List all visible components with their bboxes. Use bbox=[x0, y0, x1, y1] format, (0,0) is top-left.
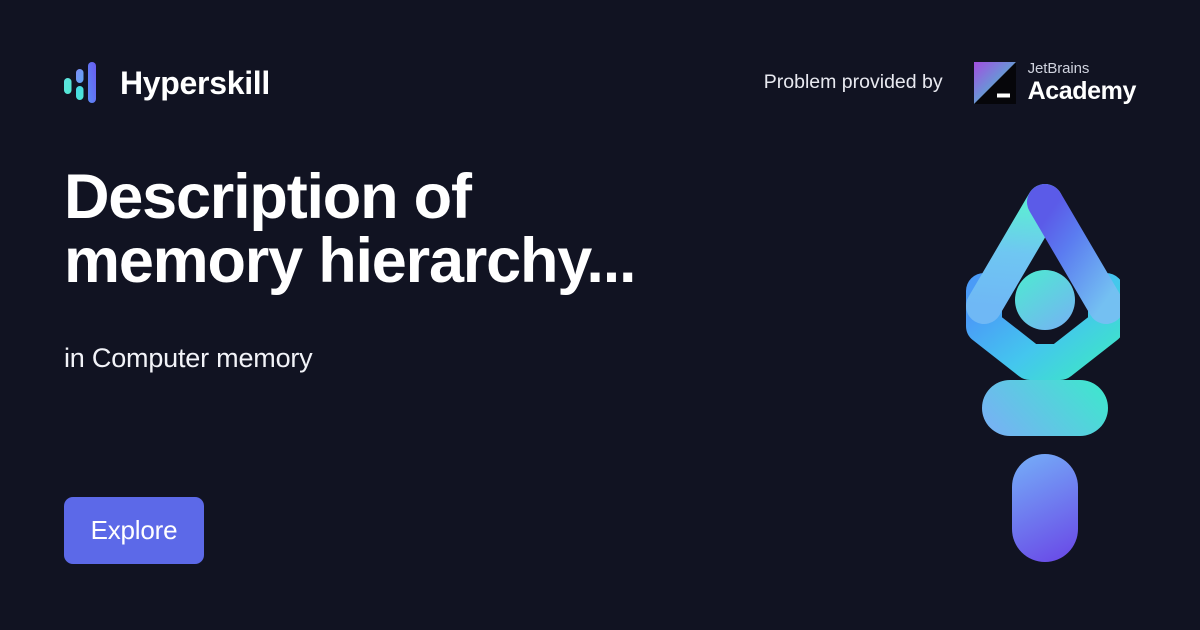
card-header: Hyperskill Problem provided by bbox=[0, 0, 1200, 165]
hyperskill-brand[interactable]: Hyperskill bbox=[64, 61, 270, 105]
hyperskill-wordmark: Hyperskill bbox=[120, 67, 270, 99]
page-subtitle: in Computer memory bbox=[64, 294, 764, 374]
provider-label: Problem provided by bbox=[764, 73, 943, 93]
card-main: Description of memory hierarchy... in Co… bbox=[64, 165, 764, 374]
problem-card: Hyperskill Problem provided by bbox=[0, 0, 1200, 630]
jetbrains-label: JetBrains bbox=[1028, 61, 1136, 76]
inner-circle bbox=[1015, 270, 1075, 330]
jetbrains-academy-logo[interactable]: JetBrains Academy bbox=[974, 61, 1136, 104]
explore-button[interactable]: Explore bbox=[64, 497, 204, 564]
jetbrains-academy-wordmark: JetBrains Academy bbox=[1028, 61, 1136, 104]
provider-block: Problem provided by bbox=[764, 61, 1136, 104]
page-title: Description of memory hierarchy... bbox=[64, 165, 724, 294]
vertical-bar bbox=[1012, 454, 1078, 562]
jetbrains-square-icon bbox=[974, 62, 1016, 104]
hyperskill-abstract-emblem bbox=[960, 178, 1120, 563]
horizontal-capsule bbox=[982, 380, 1108, 436]
academy-label: Academy bbox=[1028, 79, 1136, 104]
hyperskill-bars-icon bbox=[64, 61, 98, 105]
